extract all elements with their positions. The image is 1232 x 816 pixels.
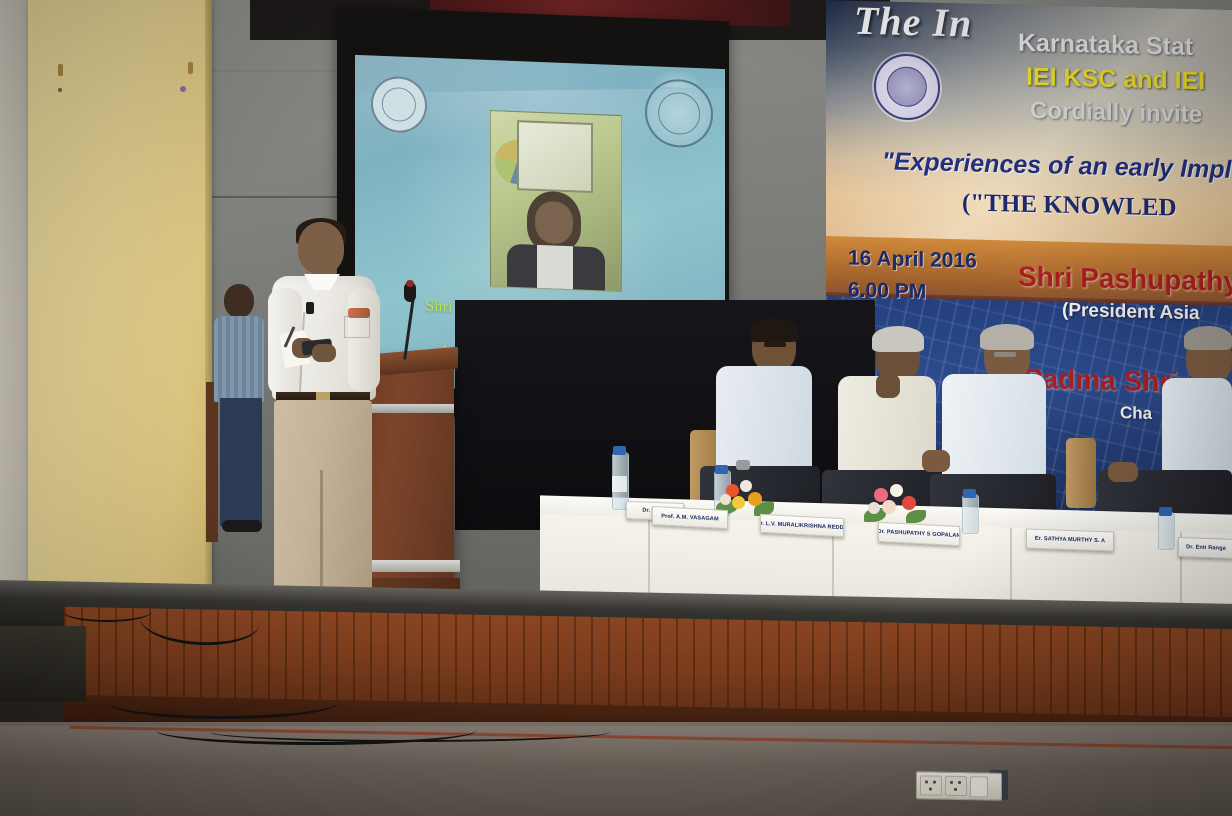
- presenter-trousers: [274, 400, 372, 610]
- banner-chief-guest-role: (President Asia: [1062, 300, 1200, 325]
- bottle-cap: [1159, 507, 1172, 516]
- stage-side-step: [0, 626, 86, 702]
- dignitary-2-hand: [876, 374, 900, 398]
- banner-honoured-guest: Padma Shri: [1024, 363, 1178, 399]
- name-placard: Er. SATHYA MURTHY S. A: [1026, 528, 1114, 551]
- placard-name: Prof. A.M. VASAGAM: [661, 513, 718, 522]
- dignitary-1-hair: [750, 318, 798, 342]
- audio-cable: [108, 686, 338, 719]
- banner-institution-line: Karnataka Stat: [1018, 29, 1193, 62]
- dignitary-3-hair: [980, 324, 1034, 350]
- bottle-cap: [963, 489, 976, 498]
- background-person-torso: [214, 316, 264, 402]
- audio-cable: [62, 600, 152, 622]
- presenter-right-arm: [348, 288, 380, 392]
- bottle-cap: [715, 465, 728, 474]
- audio-cable: [210, 722, 610, 742]
- placard-name: Dr. Enti Ranga: [1186, 544, 1226, 551]
- bottle-label: [612, 476, 627, 492]
- flower-bouquet: [862, 484, 928, 528]
- yellow-pillar: [28, 0, 210, 608]
- placard-name: Dr. L.V. MURALIKRISHNA REDDY: [760, 520, 844, 531]
- dignitary-3-moustache: [994, 352, 1016, 357]
- photograph-scene: Shri Pashupathy Shankar Gopalan, Preside…: [0, 0, 1232, 816]
- banner-date: 16 April 2016: [848, 247, 977, 274]
- slide-photo-face: [535, 201, 573, 244]
- dignitary-2-hair: [872, 326, 924, 352]
- name-placard: Dr. PASHUPATHY S GOPALAN: [878, 522, 960, 546]
- light-switch-icon[interactable]: [970, 776, 988, 797]
- banner-chief-guest: Shri Pashupathy: [1018, 261, 1232, 298]
- podium-trim: [358, 404, 454, 413]
- presenter-shirt-pocket: [344, 316, 370, 338]
- dignitary-1-shirt: [716, 366, 812, 478]
- background-person-legs: [220, 398, 262, 526]
- background-chair: [206, 382, 218, 542]
- banner-masthead: The In: [854, 0, 972, 47]
- dignitary-4-hair: [1184, 326, 1232, 350]
- slide-photo-shirt: [537, 245, 573, 292]
- dignitary-3-shirt: [942, 374, 1046, 486]
- water-bottle: [962, 494, 979, 534]
- presenter-right-hand: [312, 344, 336, 362]
- slide-photo-wall-frame: [517, 120, 593, 193]
- banner-chapters-line: IEI KSC and IEI: [1026, 63, 1205, 96]
- left-wall: [0, 0, 30, 608]
- dignitary-4-hand: [1108, 462, 1138, 482]
- dignitary-1-wristwatch: [736, 460, 750, 470]
- name-placard: Dr. Enti Ranga: [1178, 537, 1232, 559]
- name-placard: Prof. A.M. VASAGAM: [652, 506, 728, 529]
- placard-name: Er. SATHYA MURTHY S. A: [1035, 536, 1105, 544]
- wall-socket-panel[interactable]: [916, 771, 1002, 801]
- dignitary-3-hands: [922, 450, 950, 472]
- background-person-shoes: [222, 520, 262, 532]
- banner-topic-sub: ("THE KNOWLED: [962, 189, 1177, 222]
- water-bottle: [1158, 512, 1175, 550]
- placard-name: Dr. PASHUPATHY S GOPALAN: [878, 529, 960, 539]
- dignitary-1-moustache: [764, 342, 786, 347]
- power-socket-icon[interactable]: [920, 775, 942, 795]
- power-socket-icon[interactable]: [945, 776, 967, 796]
- bottle-cap: [613, 446, 626, 455]
- institution-of-engineers-logo-icon: [874, 53, 940, 121]
- banner-honoured-guest-role: Cha: [1120, 403, 1152, 424]
- microphone-windscreen: [406, 280, 414, 287]
- chair: [1066, 438, 1096, 508]
- background-person-head: [224, 284, 254, 318]
- clip-on-microphone-icon: [306, 302, 314, 314]
- banner-invite-line: Cordially invite: [1030, 97, 1202, 129]
- slide-portrait-photo: [490, 110, 622, 292]
